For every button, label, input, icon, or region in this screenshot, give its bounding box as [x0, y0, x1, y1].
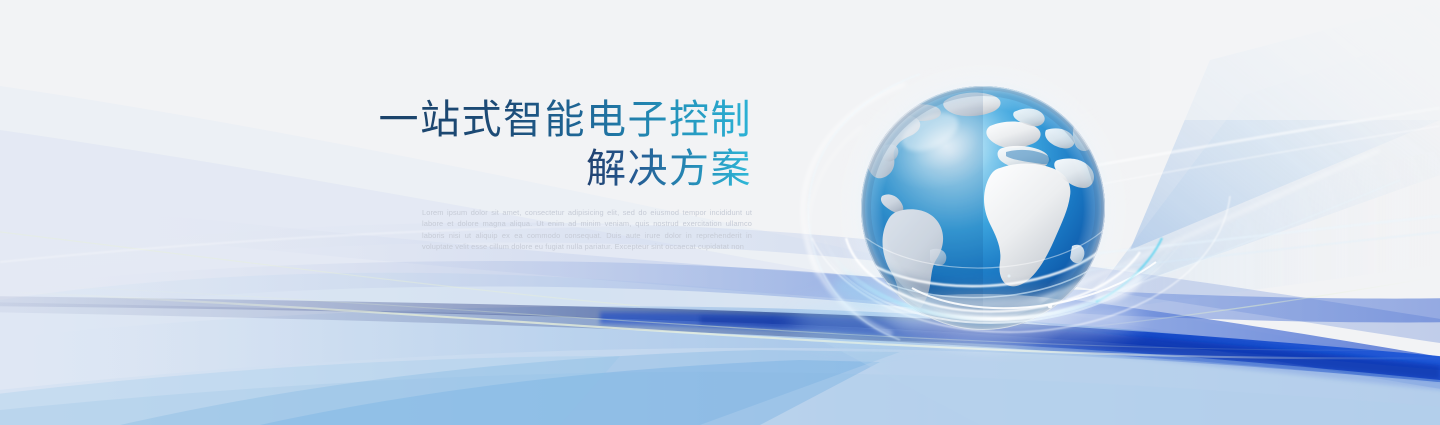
headline-block: 一站式智能电子控制 解决方案 Lorem ipsum dolor sit ame…	[300, 96, 752, 252]
headline-line-1: 一站式智能电子控制	[379, 96, 753, 145]
headline-line-2: 解决方案	[586, 145, 752, 194]
body-paragraph: Lorem ipsum dolor sit amet, consectetur …	[422, 207, 752, 252]
globe-bottom-bloom	[790, 292, 1140, 344]
hero-banner: 一站式智能电子控制 解决方案 Lorem ipsum dolor sit ame…	[0, 0, 1440, 425]
page-title: 一站式智能电子控制 解决方案	[300, 96, 752, 194]
